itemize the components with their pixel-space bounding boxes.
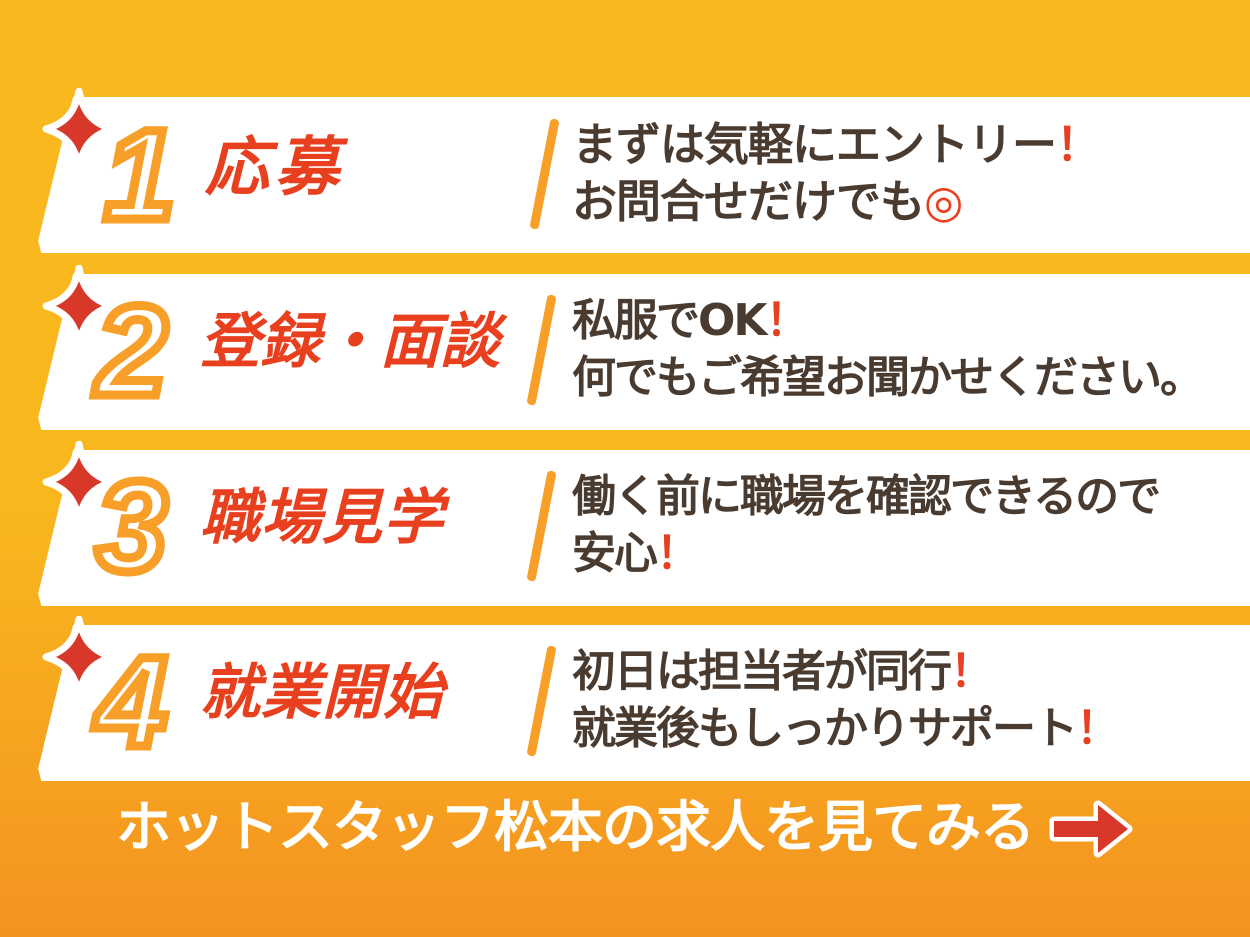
desc-mark: ！ [1076, 703, 1118, 754]
cta-banner[interactable]: ホットスタッフ松本の求人を見てみる [0, 782, 1250, 872]
promo-banner: 1 応募 まずは気軽にエントリー！ お問合せだけでも◎ 2 登録・面談 私服でO… [0, 0, 1250, 937]
step-number-1: 1 [104, 112, 173, 240]
step-description-3: 働く前に職場を確認できるので 安心！ [572, 468, 1240, 582]
step-description-4: 初日は担当者が同行！ 就業後もしっかりサポート！ [572, 643, 1240, 757]
desc-line-text: まずは気軽にエントリー [572, 118, 1056, 171]
desc-line-text: 安心 [572, 528, 656, 579]
step-label-4: 就業開始 [200, 663, 444, 723]
desc-line-text: 何でもご希望お聞かせください。 [572, 352, 1202, 403]
step-label-2: 登録・面談 [200, 312, 500, 372]
desc-line-text: 私服でOK [572, 295, 766, 346]
step-number-2: 2 [96, 288, 165, 416]
step-description-1: まずは気軽にエントリー！ お問合せだけでも◎ [572, 116, 1240, 230]
step-label-1: 応募 [205, 136, 345, 200]
step-description-2: 私服でOK！ 何でもご希望お聞かせください。 [572, 292, 1240, 406]
desc-mark: ！ [656, 528, 698, 579]
desc-line-text: 就業後もしっかりサポート [572, 703, 1076, 754]
step-number-4: 4 [96, 639, 165, 767]
arrow-right-icon[interactable] [1048, 796, 1134, 862]
step-label-3: 職場見学 [200, 488, 444, 548]
desc-line-text: 初日は担当者が同行 [572, 646, 950, 697]
step-number-3: 3 [96, 464, 165, 592]
desc-mark: ！ [766, 295, 808, 346]
desc-mark: ！ [950, 646, 992, 697]
desc-line-text: 働く前に職場を確認できるので [572, 471, 1159, 522]
cta-label: ホットスタッフ松本の求人を見てみる [116, 800, 1034, 855]
desc-mark: ！ [1056, 118, 1100, 171]
desc-mark: ◎ [924, 175, 962, 228]
desc-line-text: お問合せだけでも [572, 175, 924, 228]
